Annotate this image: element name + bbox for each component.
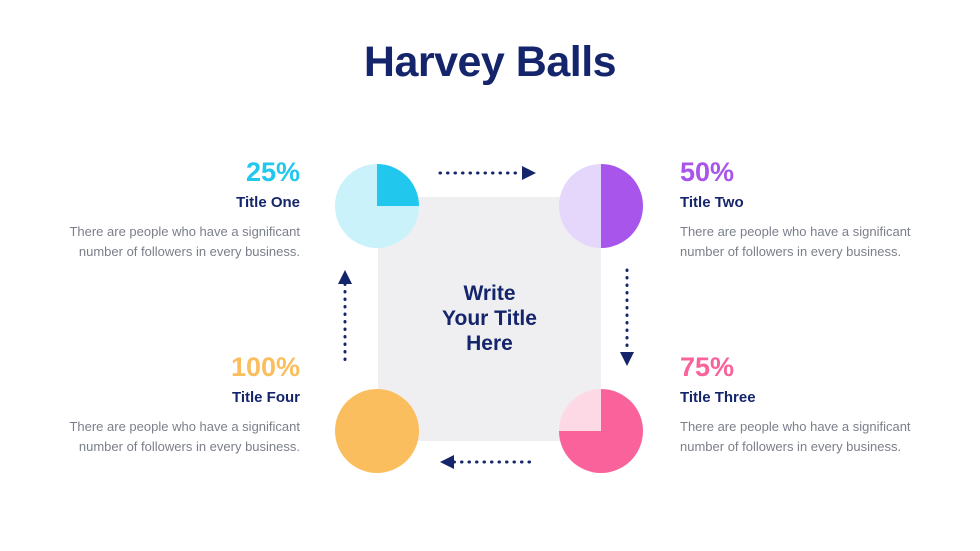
item-title-three: Title Three [680,389,916,407]
arrow-down-icon [617,268,637,368]
harvey-ball-25-percent[interactable] [335,164,419,248]
info-block-title-three: 75% Title Three There are people who hav… [680,352,916,457]
percent-label-one: 25% [64,157,300,188]
center-title-line-1: Write [378,281,601,306]
slide-canvas: Harvey Balls Write Your Title Here [0,0,980,551]
item-title-two: Title Two [680,194,916,212]
center-title-line-3: Here [378,331,601,356]
item-description-two: There are people who have a significant … [680,222,916,262]
percent-label-two: 50% [680,157,916,188]
harvey-ball-100-percent[interactable] [335,389,419,473]
percent-label-four: 100% [64,352,300,383]
page-title: Harvey Balls [0,38,980,87]
info-block-title-four: 100% Title Four There are people who hav… [64,352,300,457]
arrow-left-icon [438,452,538,472]
item-description-four: There are people who have a significant … [64,417,300,457]
item-title-four: Title Four [64,389,300,407]
center-title: Write Your Title Here [378,281,601,356]
center-title-line-2: Your Title [378,306,601,331]
harvey-ball-50-percent[interactable] [559,164,643,248]
item-title-one: Title One [64,194,300,212]
harvey-ball-75-percent[interactable] [559,389,643,473]
arrow-right-icon [438,163,538,183]
arrow-up-icon [335,268,355,368]
percent-label-three: 75% [680,352,916,383]
info-block-title-two: 50% Title Two There are people who have … [680,157,916,262]
item-description-one: There are people who have a significant … [64,222,300,262]
info-block-title-one: 25% Title One There are people who have … [64,157,300,262]
item-description-three: There are people who have a significant … [680,417,916,457]
